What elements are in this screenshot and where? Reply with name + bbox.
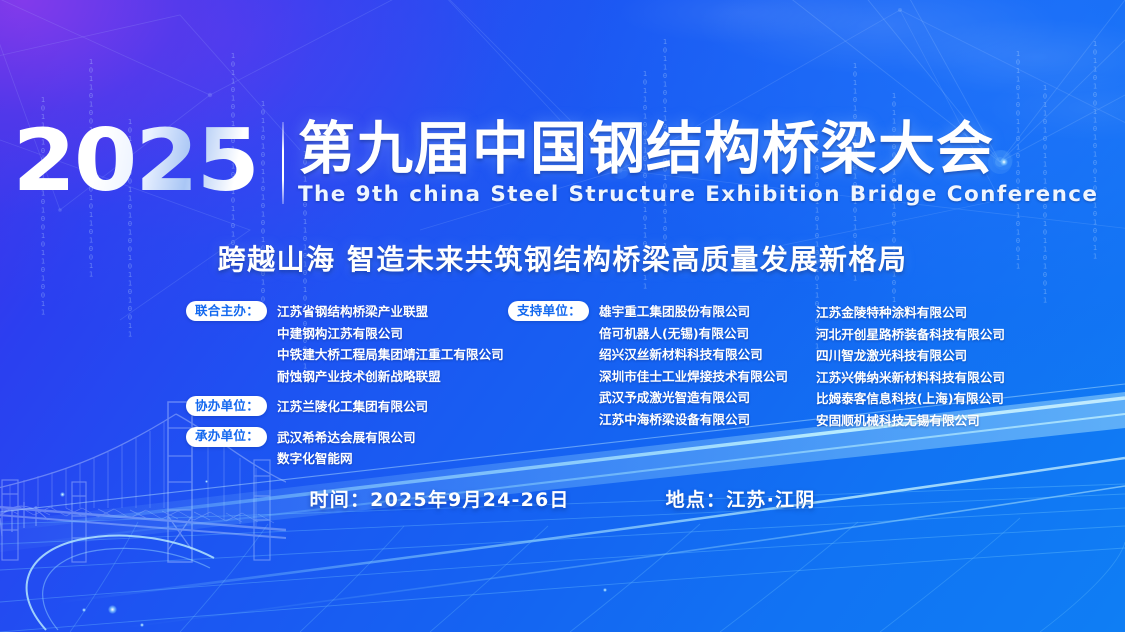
list-item: 中建钢构江苏有限公司 <box>277 323 504 345</box>
co-organizer-block: 协办单位： 江苏兰陵化工集团有限公司 <box>186 396 504 418</box>
joint-host-list: 江苏省钢结构桥梁产业联盟 中建钢构江苏有限公司 中铁建大桥工程局集团靖江重工有限… <box>277 301 504 387</box>
organizers-column-left: 联合主办： 江苏省钢结构桥梁产业联盟 中建钢构江苏有限公司 中铁建大桥工程局集团… <box>186 301 504 479</box>
list-item: 江苏兰陵化工集团有限公司 <box>277 396 428 418</box>
list-item: 江苏兴佛纳米新材料科技有限公司 <box>816 367 1005 389</box>
list-item: 雄宇重工集团股份有限公司 <box>599 301 788 323</box>
supporters-label: 支持单位： <box>508 301 589 321</box>
page-subtitle-en: The 9th china Steel Structure Exhibition… <box>298 182 1098 207</box>
supporters-column-right: 江苏金陵特种涂料有限公司 河北开创星路桥装备科技有限公司 四川智龙激光科技有限公… <box>806 302 1005 431</box>
list-item: 深圳市佳士工业焊接技术有限公司 <box>599 366 788 388</box>
list-item: 绍兴汉丝新材料科技有限公司 <box>599 344 788 366</box>
undertaker-label: 承办单位： <box>186 427 267 447</box>
footer-info: 时间：2025年9月24-26日 地点：江苏·江阴 <box>0 485 1125 512</box>
list-item: 四川智龙激光科技有限公司 <box>816 345 1005 367</box>
list-item: 比姆泰客信息科技(上海)有限公司 <box>816 388 1005 410</box>
list-item: 数字化智能网 <box>277 448 416 470</box>
supporters-block: 支持单位： 雄宇重工集团股份有限公司 倍可机器人(无锡)有限公司 绍兴汉丝新材料… <box>508 301 788 430</box>
supporters-column-middle: 支持单位： 雄宇重工集团股份有限公司 倍可机器人(无锡)有限公司 绍兴汉丝新材料… <box>508 301 788 439</box>
list-item: 江苏金陵特种涂料有限公司 <box>816 302 1005 324</box>
list-item: 武汉希希达会展有限公司 <box>277 427 416 449</box>
title-divider <box>282 122 284 204</box>
list-item: 河北开创星路桥装备科技有限公司 <box>816 324 1005 346</box>
undertaker-list: 武汉希希达会展有限公司 数字化智能网 <box>277 427 416 470</box>
supporters-list: 雄宇重工集团股份有限公司 倍可机器人(无锡)有限公司 绍兴汉丝新材料科技有限公司… <box>599 301 788 430</box>
list-item: 安固顺机械科技无锡有限公司 <box>816 410 1005 432</box>
page-title: 第九届中国钢结构桥梁大会 <box>298 118 1098 180</box>
supporters-extra-list: 江苏金陵特种涂料有限公司 河北开创星路桥装备科技有限公司 四川智龙激光科技有限公… <box>816 302 1005 431</box>
event-date: 时间：2025年9月24-26日 <box>310 485 570 512</box>
undertaker-block: 承办单位： 武汉希希达会展有限公司 数字化智能网 <box>186 427 504 470</box>
list-item: 江苏省钢结构桥梁产业联盟 <box>277 301 504 323</box>
co-organizer-label: 协办单位： <box>186 396 267 416</box>
event-location: 地点：江苏·江阴 <box>666 485 816 512</box>
list-item: 武汉予成激光智造有限公司 <box>599 387 788 409</box>
list-item: 耐蚀钢产业技术创新战略联盟 <box>277 366 504 388</box>
slogan-text: 跨越山海 智造未来共筑钢结构桥梁高质量发展新格局 <box>0 238 1125 278</box>
list-item: 中铁建大桥工程局集团靖江重工有限公司 <box>277 344 504 366</box>
conference-banner: 10110100110101001011010011 1011010011010… <box>0 0 1125 632</box>
joint-host-block: 联合主办： 江苏省钢结构桥梁产业联盟 中建钢构江苏有限公司 中铁建大桥工程局集团… <box>186 301 504 387</box>
year-text: 2025 <box>12 118 268 204</box>
joint-host-label: 联合主办： <box>186 301 267 321</box>
title-block: 2025 第九届中国钢结构桥梁大会 The 9th china Steel St… <box>0 118 1125 207</box>
list-item: 江苏中海桥梁设备有限公司 <box>599 409 788 431</box>
list-item: 倍可机器人(无锡)有限公司 <box>599 323 788 345</box>
co-organizer-list: 江苏兰陵化工集团有限公司 <box>277 396 428 418</box>
